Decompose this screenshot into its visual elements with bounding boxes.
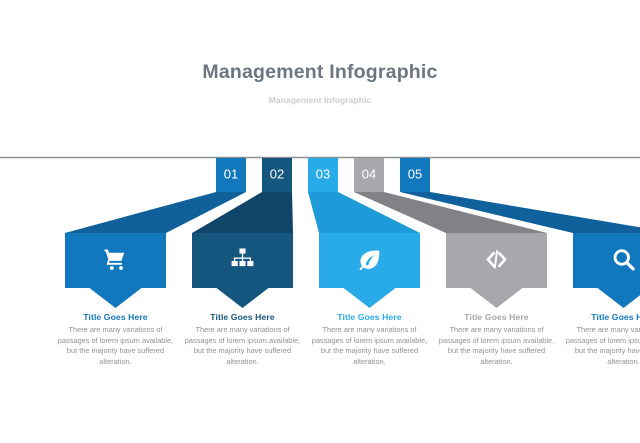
- caption-title: Title Goes Here: [439, 311, 555, 323]
- badge-number-label: 03: [316, 167, 330, 182]
- caption-title: Title Goes Here: [312, 311, 428, 323]
- caption-03: Title Goes HereThere are many variations…: [312, 311, 428, 367]
- caption-body: There are many variations of passages of…: [312, 325, 428, 367]
- caption-title: Title Goes Here: [185, 311, 301, 323]
- icon-box-03[interactable]: [319, 233, 420, 308]
- caption-title: Title Goes Here: [58, 311, 174, 323]
- caption-02: Title Goes HereThere are many variations…: [185, 311, 301, 367]
- caption-body: There are many variations of passages of…: [58, 325, 174, 367]
- icon-box-04[interactable]: [446, 233, 547, 308]
- caption-body: There are many variations of passages of…: [566, 325, 640, 367]
- infographic-canvas: Management Infographic Management Infogr…: [0, 0, 640, 443]
- badge-number-label: 04: [362, 167, 376, 182]
- caption-body: There are many variations of passages of…: [439, 325, 555, 367]
- badge-number-label: 02: [270, 167, 284, 182]
- caption-05: Title Goes HereThere are many variations…: [566, 311, 640, 367]
- icon-box-01[interactable]: [65, 233, 166, 308]
- caption-title: Title Goes Here: [566, 311, 640, 323]
- ribbon-group: [65, 192, 640, 233]
- icon-box-group: [65, 233, 640, 308]
- icon-box-02[interactable]: [192, 233, 293, 308]
- badge-number-label: 05: [408, 167, 422, 182]
- badge-group: 0102030405: [216, 158, 430, 192]
- caption-01: Title Goes HereThere are many variations…: [58, 311, 174, 367]
- caption-body: There are many variations of passages of…: [185, 325, 301, 367]
- caption-group: Title Goes HereThere are many variations…: [0, 311, 640, 401]
- icon-box-05[interactable]: [573, 233, 640, 308]
- caption-04: Title Goes HereThere are many variations…: [439, 311, 555, 367]
- badge-number-label: 01: [224, 167, 238, 182]
